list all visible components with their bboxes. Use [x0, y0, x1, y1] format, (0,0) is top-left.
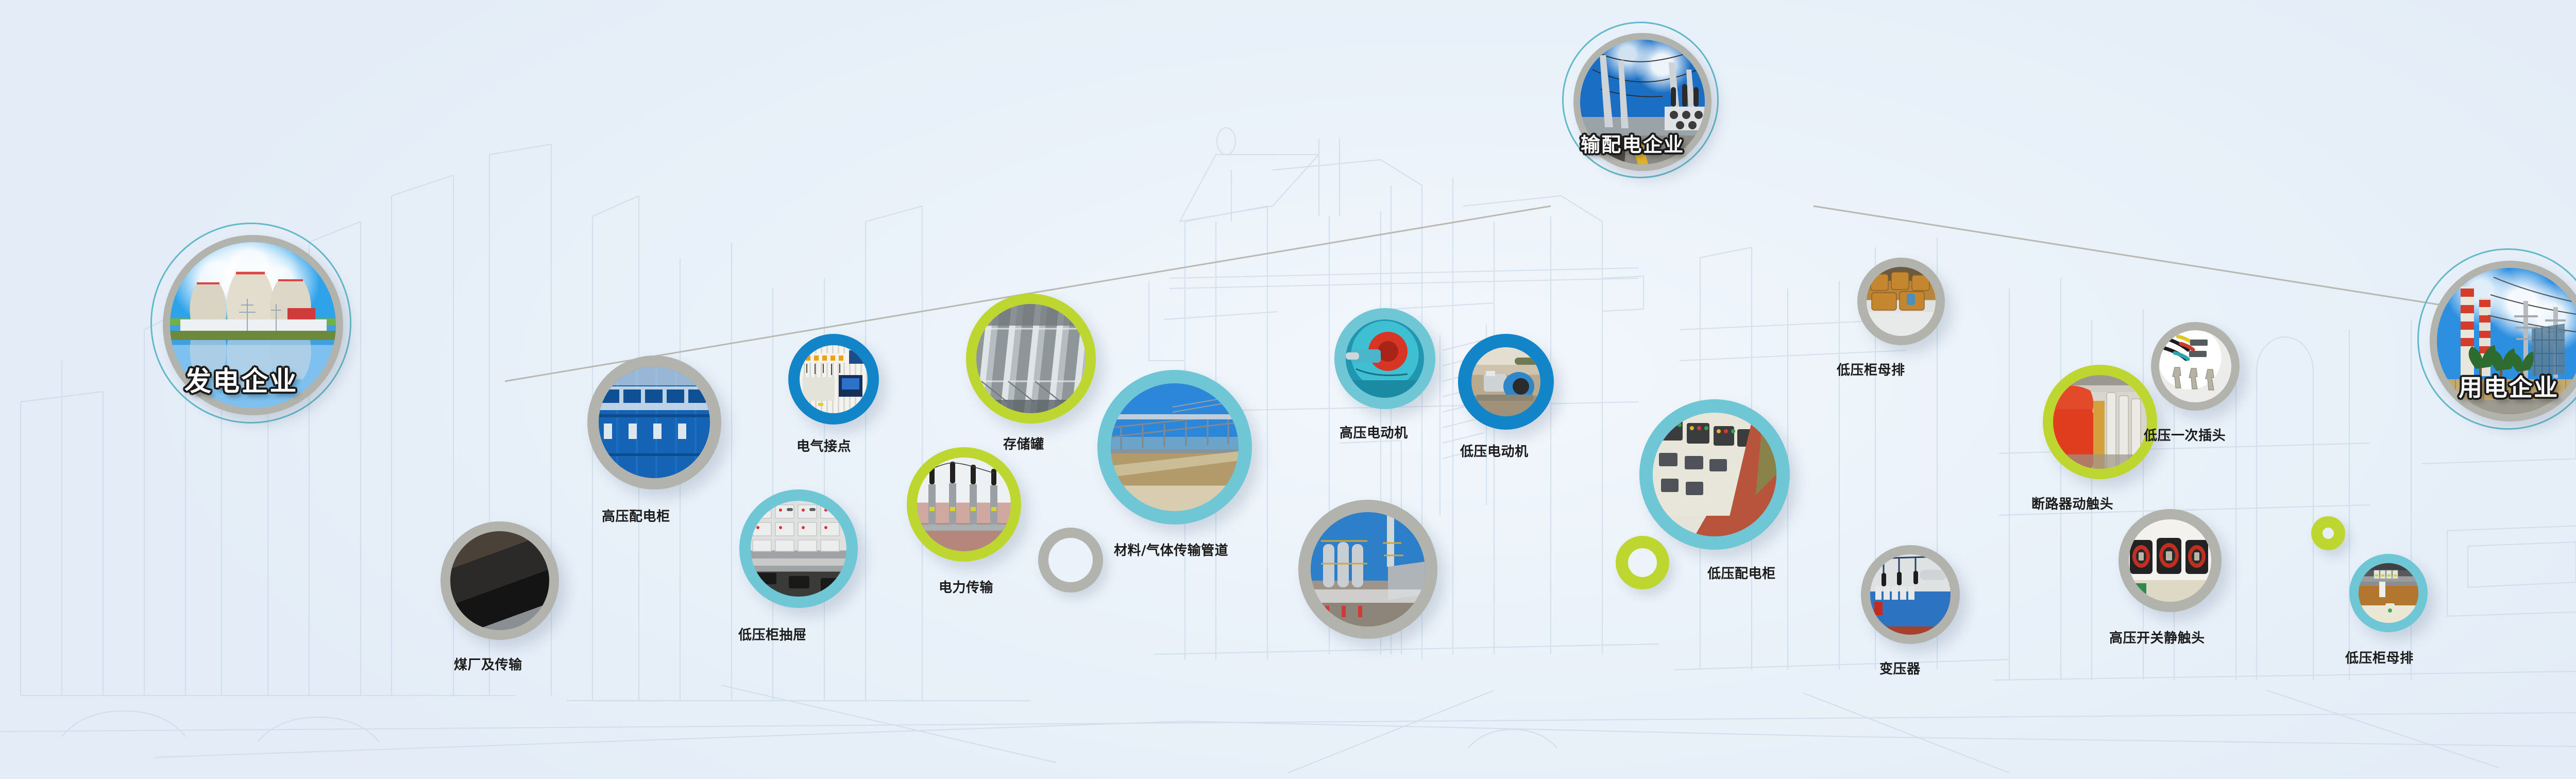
hv-switch-static-contact-bubble[interactable]: [2119, 509, 2222, 612]
hv-distribution-cabinet-photo: [599, 367, 710, 478]
ring-lime-right: [2311, 516, 2345, 550]
hv-distribution-cabinet-bubble[interactable]: [587, 355, 721, 489]
chemical-plant-photo: [1311, 512, 1425, 626]
electrical-contact-point-photo: [800, 345, 868, 413]
lv-cabinet-busbar-bottom-photo: [2359, 563, 2418, 623]
coal-plant-transport-photo: [450, 531, 549, 630]
hv-motor-photo: [1346, 319, 1424, 398]
chemical-plant-bubble[interactable]: [1298, 500, 1437, 639]
material-gas-pipeline-label: 材料/气体传输管道: [1114, 540, 1228, 559]
lv-primary-plug-photo: [2159, 330, 2231, 402]
lv-cabinet-busbar-bottom-bubble[interactable]: [2349, 554, 2428, 632]
lv-distribution-cabinet-photo: [1653, 413, 1776, 536]
storage-tank-label: 存储罐: [1003, 434, 1044, 453]
material-gas-pipeline-photo: [1111, 383, 1239, 511]
lv-distribution-cabinet-bubble[interactable]: [1639, 399, 1790, 550]
electrical-contact-point-label: 电气接点: [796, 436, 851, 455]
lv-cabinet-busbar-top-bubble[interactable]: [1857, 258, 1945, 345]
lv-motor-photo: [1471, 347, 1540, 416]
transformer-photo: [1870, 554, 1951, 635]
transmission-distribution-label: 输配电企业: [1581, 129, 1684, 157]
hv-motor-bubble[interactable]: [1334, 308, 1435, 409]
storage-tank-photo: [976, 304, 1086, 413]
lv-cabinet-busbar-top-photo: [1867, 267, 1936, 336]
power-consumer-label: 用电企业: [2459, 369, 2559, 403]
hv-motor-label: 高压电动机: [1340, 422, 1408, 442]
lv-cabinet-drawer-bubble[interactable]: [739, 489, 858, 608]
ring-gray-left: [1038, 528, 1103, 592]
hv-switch-static-contact-label: 高压开关静触头: [2109, 628, 2205, 647]
lv-primary-plug-bubble[interactable]: [2151, 322, 2240, 411]
power-transmission-photo: [917, 458, 1011, 551]
lv-cabinet-busbar-bottom-label: 低压柜母排: [2345, 648, 2414, 667]
lv-motor-label: 低压电动机: [1460, 441, 1529, 460]
transformer-label: 变压器: [1879, 658, 1921, 678]
coal-plant-transport-bubble[interactable]: [440, 521, 559, 640]
electrical-contact-point-bubble[interactable]: [788, 334, 879, 425]
transformer-bubble[interactable]: [1861, 545, 1960, 644]
lv-motor-bubble[interactable]: [1458, 334, 1554, 430]
lv-cabinet-busbar-top-label: 低压柜母排: [1837, 360, 1905, 379]
lv-cabinet-drawer-photo: [751, 501, 846, 597]
ring-lime-center: [1616, 536, 1669, 589]
breaker-moving-contact-bubble[interactable]: [2043, 365, 2157, 479]
breaker-moving-contact-photo: [2053, 375, 2147, 469]
lv-distribution-cabinet-label: 低压配电柜: [1707, 563, 1776, 582]
hv-distribution-cabinet-label: 高压配电柜: [602, 506, 670, 525]
power-transmission-label: 电力传输: [939, 577, 993, 596]
power-generation-label: 发电企业: [184, 360, 298, 398]
lv-primary-plug-label: 低压一次插头: [2144, 425, 2226, 444]
power-transmission-bubble[interactable]: [907, 447, 1021, 562]
lv-cabinet-drawer-label: 低压柜抽屉: [738, 624, 807, 643]
material-gas-pipeline-bubble[interactable]: [1097, 370, 1252, 524]
storage-tank-bubble[interactable]: [966, 294, 1096, 424]
infographic-canvas: 发电企业 煤厂及传输: [0, 0, 2576, 779]
coal-plant-transport-label: 煤厂及传输: [454, 654, 522, 673]
hv-switch-static-contact-photo: [2129, 519, 2211, 602]
breaker-moving-contact-label: 断路器动触头: [2031, 494, 2113, 513]
